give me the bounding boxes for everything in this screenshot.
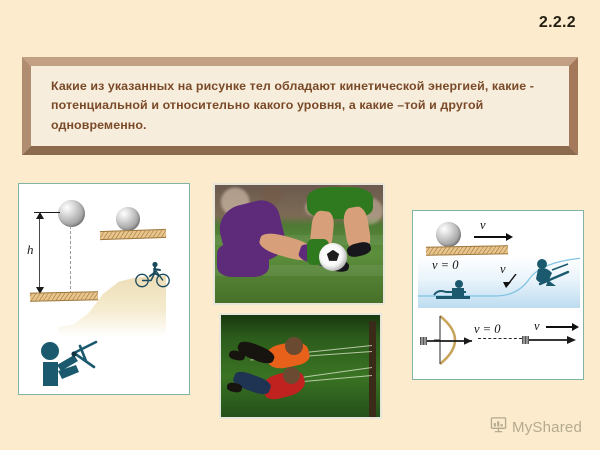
kinetic-energy-diagram-panel: v v = 0 v — [412, 210, 584, 380]
velocity-arrow-flight-line — [546, 326, 574, 328]
child-red-head — [283, 367, 300, 384]
question-text: Какие из указанных на рисунке тел облада… — [31, 77, 569, 135]
player-purple-shorts — [217, 243, 269, 277]
ground-rolling-ball — [426, 245, 508, 255]
potential-energy-diagram-canvas: h — [22, 187, 186, 391]
velocity-label-sled: v = 0 — [432, 258, 458, 273]
myshared-watermark: MyShared — [490, 416, 582, 438]
potential-energy-diagram-panel: h — [18, 183, 190, 395]
swing-photo-panel — [219, 313, 382, 419]
cyclist-icon — [134, 260, 172, 288]
child-orange-head — [285, 337, 303, 355]
velocity-arrow-flight-head — [572, 323, 579, 331]
suspended-ball-icon — [58, 200, 85, 227]
ground-upper — [100, 229, 166, 240]
height-label: h — [27, 242, 34, 258]
arrow-in-flight-icon — [520, 333, 580, 345]
arrow-trajectory-dashed — [478, 338, 522, 339]
question-panel: Какие из указанных на рисунке тел облада… — [31, 66, 569, 146]
frame-bevel-bottom — [22, 146, 578, 155]
watermark-label: MyShared — [512, 419, 582, 436]
question-frame: Какие из указанных на рисунке тел облада… — [22, 57, 578, 155]
height-arrow-up — [36, 212, 44, 219]
swing-post — [369, 321, 376, 417]
sled-icon — [430, 278, 478, 300]
frame-bevel-top — [22, 57, 578, 66]
rolling-ball-icon — [436, 222, 461, 247]
height-measure-line — [39, 212, 40, 294]
velocity-arrow-skier — [502, 274, 520, 290]
frame-bevel-right — [569, 57, 578, 155]
velocity-arrow-ball-line — [474, 236, 508, 238]
velocity-label-arrow-flight: v — [534, 319, 540, 334]
swing-background — [221, 315, 380, 417]
slide-number: 2.2.2 — [539, 14, 576, 32]
swing-photo-canvas — [221, 315, 380, 417]
soccer-photo-panel — [213, 183, 385, 305]
archer-icon — [34, 335, 102, 387]
presentation-chart-icon — [490, 416, 507, 438]
skier-icon — [528, 258, 574, 292]
kinetic-energy-diagram-canvas: v v = 0 v — [416, 214, 580, 376]
arrow-at-rest-icon — [418, 334, 482, 346]
soccer-photo-canvas — [215, 185, 383, 303]
velocity-label-arrow-rest: v = 0 — [474, 322, 500, 337]
velocity-label-ball: v — [480, 218, 486, 233]
soccer-ball-icon — [319, 243, 347, 271]
frame-bevel-left — [22, 57, 31, 155]
velocity-arrow-ball-head — [506, 233, 513, 241]
resting-ball-icon — [116, 207, 140, 231]
